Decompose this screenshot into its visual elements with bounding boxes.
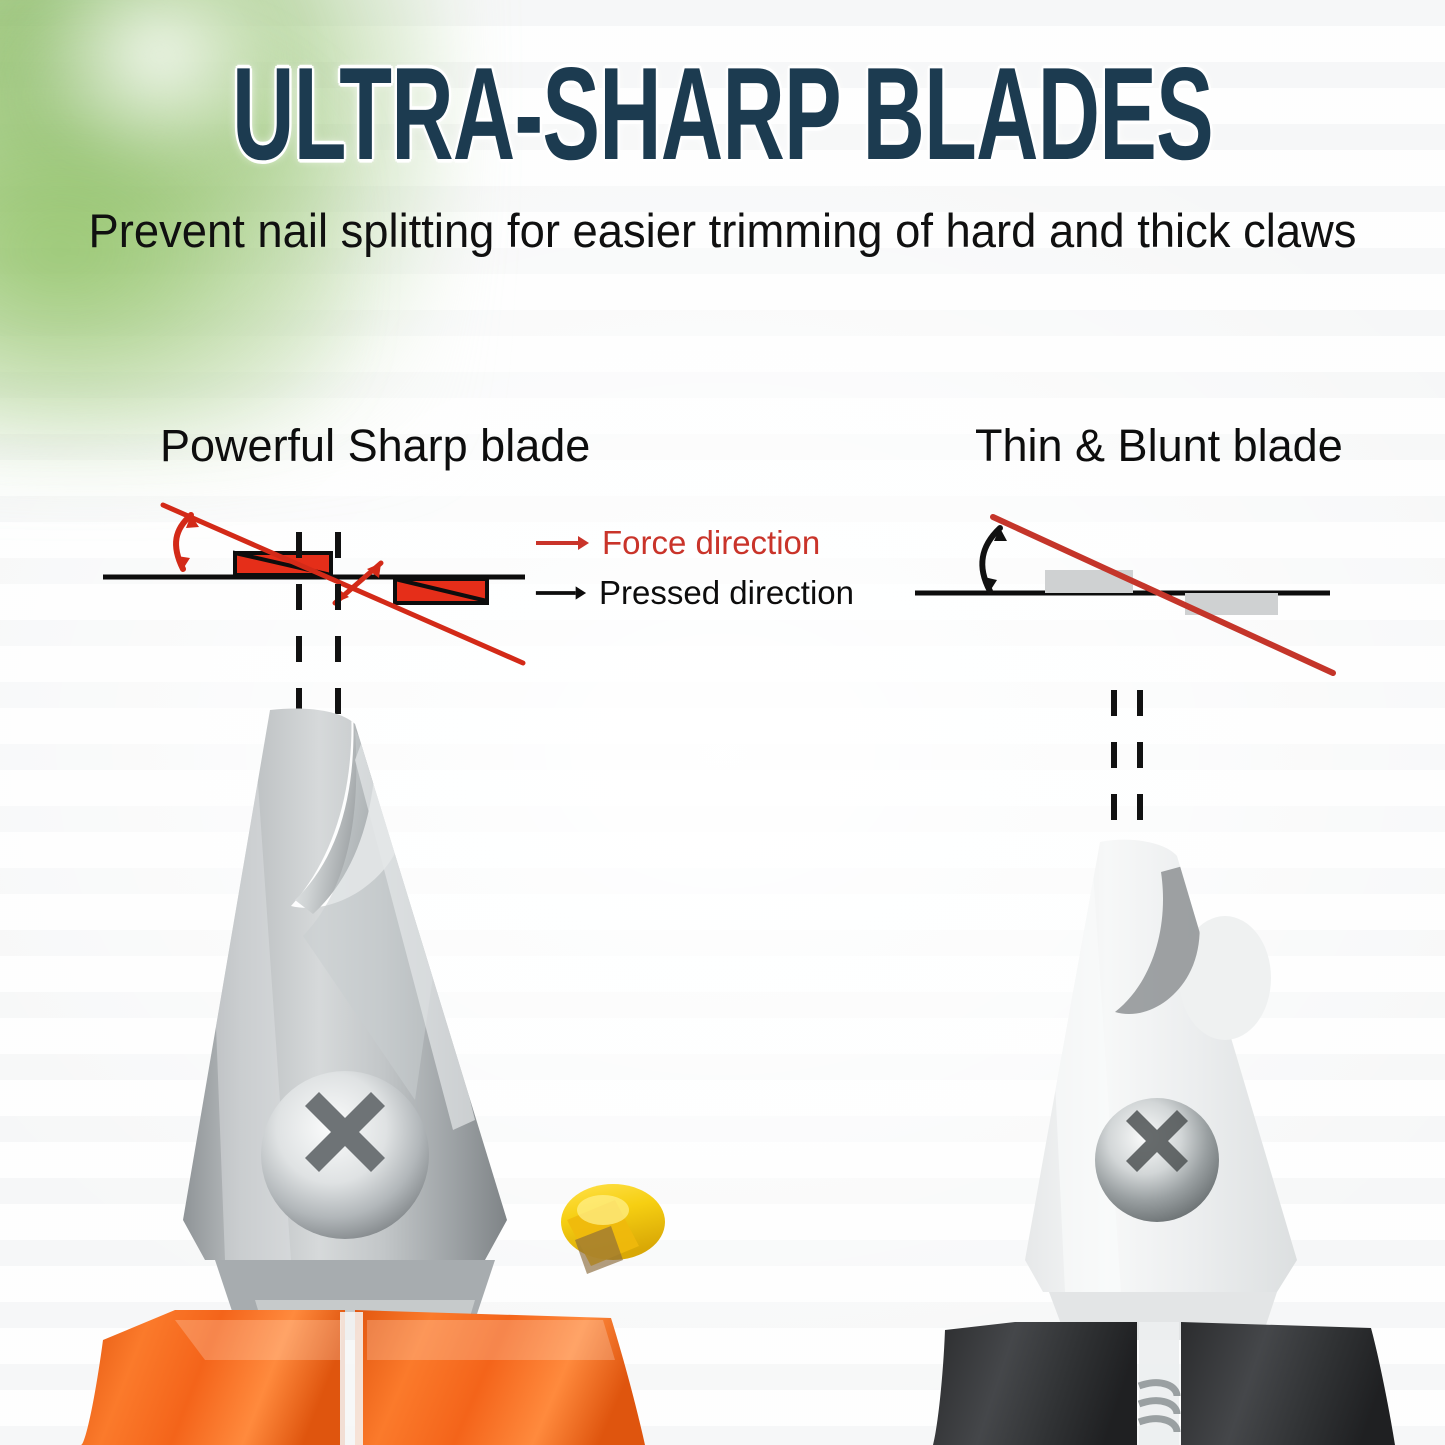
page-title: ULTRA-SHARP BLADES — [145, 48, 1301, 180]
legend-item-pressed-direction: Pressed direction — [534, 568, 854, 618]
pivot-screw — [1095, 1098, 1219, 1222]
section-label-sharp-blade: Powerful Sharp blade — [160, 420, 590, 472]
handle-left — [933, 1322, 1137, 1445]
sharp-nail-clipper-photo — [55, 700, 675, 1445]
handle-gloss-right — [367, 1320, 615, 1360]
legend-label-pressed-direction: Pressed direction — [599, 574, 854, 612]
legend-label-force-direction: Force direction — [602, 524, 820, 562]
page-subtitle: Prevent nail splitting for easier trimmi… — [25, 204, 1419, 258]
handle-center-gap — [340, 1312, 363, 1445]
infographic-page: ULTRA-SHARP BLADES Prevent nail splittin… — [0, 0, 1445, 1445]
diagram-legend: Force direction Pressed direction — [534, 518, 854, 618]
pivot-screw — [261, 1071, 429, 1239]
blunt-blade-angle-diagram — [890, 495, 1360, 715]
legend-item-force-direction: Force direction — [534, 518, 854, 568]
blunt-nail-clipper-photo — [925, 830, 1445, 1445]
safety-stop-highlight — [577, 1195, 629, 1225]
handle-right — [1181, 1322, 1395, 1445]
arrow-right-icon — [534, 532, 590, 554]
section-label-blunt-blade: Thin & Blunt blade — [975, 420, 1343, 472]
arrow-right-icon — [534, 582, 587, 604]
